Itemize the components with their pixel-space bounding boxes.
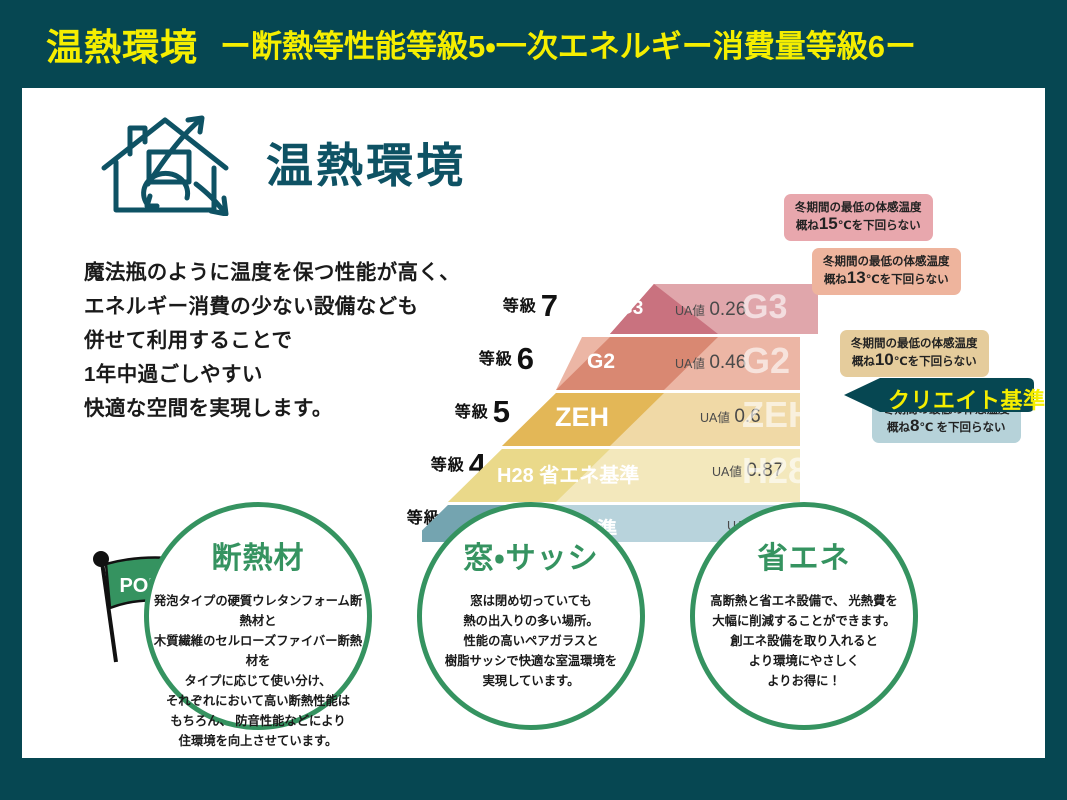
page-header: 温熱環境 ー断熱等性能等級5・一次エネルギー消費量等級6ー	[0, 0, 1067, 88]
feature-body-insulation: 発泡タイプの硬質ウレタンフォーム断熱材と 木質繊維のセルローズファイバー断熱材を…	[149, 591, 367, 751]
feature-circles: 断熱材 発泡タイプの硬質ウレタンフォーム断熱材と 木質繊維のセルローズファイバー…	[22, 88, 1045, 758]
feature-body-energy: 高断熱と省エネ設備で、 光熱費を 大幅に削減することができます。 創エネ設備を取…	[706, 591, 901, 691]
feature-title-energy: 省エネ	[758, 533, 851, 577]
feature-title-windows: 窓・サッシ	[463, 533, 598, 577]
header-title: 温熱環境	[46, 17, 198, 71]
header-subtitle: ー断熱等性能等級5・一次エネルギー消費量等級6ー	[220, 21, 916, 68]
feature-title-insulation: 断熱材	[212, 533, 305, 577]
feature-circle-energy: 省エネ 高断熱と省エネ設備で、 光熱費を 大幅に削減することができます。 創エネ…	[690, 502, 918, 730]
feature-circle-insulation: 断熱材 発泡タイプの硬質ウレタンフォーム断熱材と 木質繊維のセルローズファイバー…	[144, 502, 372, 730]
infographic-root: 温熱環境 ー断熱等性能等級5・一次エネルギー消費量等級6ー	[0, 0, 1067, 800]
feature-body-windows: 窓は閉め切っていても 熱の出入りの多い場所。 性能の高いペアガラスと 樹脂サッシ…	[441, 591, 621, 691]
feature-circle-windows: 窓・サッシ 窓は閉め切っていても 熱の出入りの多い場所。 性能の高いペアガラスと…	[417, 502, 645, 730]
content-card: 温熱環境 魔法瓶のように温度を保つ性能が高く、 エネルギー消費の少ない設備なども…	[22, 88, 1045, 758]
